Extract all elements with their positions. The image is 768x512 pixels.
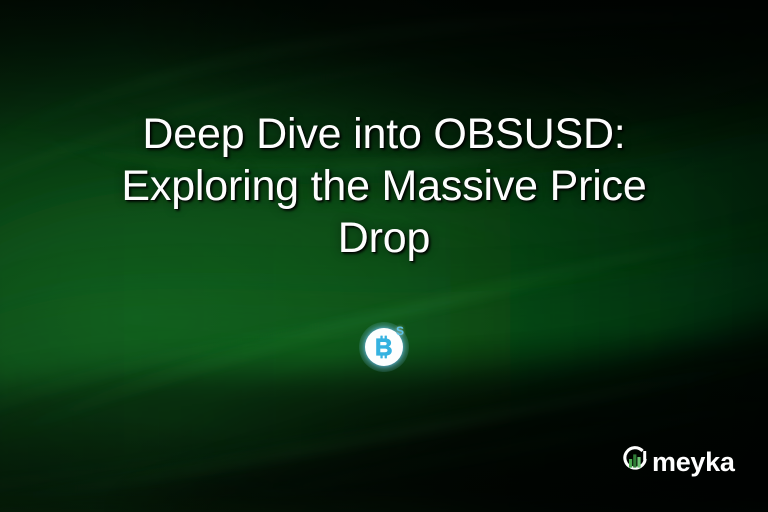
title-line-2: Exploring the Massive Price — [34, 160, 734, 212]
coin-superscript-label: S — [396, 324, 404, 338]
share-card-canvas: Deep Dive into OBSUSD: Exploring the Mas… — [0, 0, 768, 512]
page-title: Deep Dive into OBSUSD: Exploring the Mas… — [0, 108, 768, 264]
meyka-brand-text: meyka — [652, 449, 735, 476]
meyka-logo: meyka — [620, 444, 735, 479]
title-line-3: Drop — [34, 212, 734, 264]
title-line-1: Deep Dive into OBSUSD: — [34, 108, 734, 160]
meyka-bar-chart-ring-logo-icon — [620, 444, 650, 479]
bitcoin-coin-icon: S — [358, 321, 412, 375]
